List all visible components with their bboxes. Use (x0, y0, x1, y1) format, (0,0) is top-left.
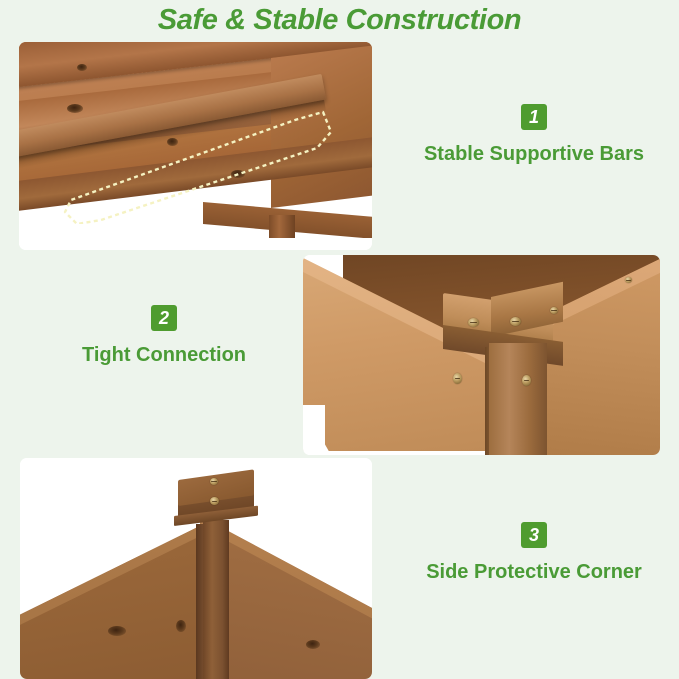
wood-knot (167, 138, 178, 146)
corner-post (489, 343, 547, 455)
screw-head (550, 307, 558, 314)
feature-label-3: Side Protective Corner (404, 560, 664, 584)
screw-head (522, 375, 531, 386)
tabletop-right-section (271, 42, 372, 208)
feature-block-1: 1 Stable Supportive Bars (404, 104, 664, 166)
planter-box-corner-joint-photo (303, 255, 660, 455)
photo-panel-protective-corner (20, 458, 372, 679)
feature-number-badge-3: 3 (521, 522, 547, 548)
feature-number-badge-1: 1 (521, 104, 547, 130)
feature-block-2: 2 Tight Connection (34, 305, 294, 367)
wood-knot (176, 620, 186, 632)
corner-post-protective-cap-photo (20, 458, 372, 679)
photo-panel-support-bars (19, 42, 372, 250)
screw-head (468, 318, 479, 327)
screw-head (453, 373, 462, 384)
wood-knot (306, 640, 320, 649)
wood-knot (231, 170, 245, 178)
screw-head (510, 317, 521, 326)
corner-post (203, 520, 229, 679)
page-title: Safe & Stable Construction (0, 4, 679, 37)
screw-head (625, 277, 632, 283)
feature-label-2: Tight Connection (34, 343, 294, 367)
wood-knot (67, 104, 83, 113)
table-underside-support-bars-photo (19, 42, 372, 250)
photo-panel-tight-connection (303, 255, 660, 455)
screw-head (210, 497, 219, 505)
screw-head (210, 478, 218, 485)
feature-block-3: 3 Side Protective Corner (404, 522, 664, 584)
wood-knot (108, 626, 126, 636)
photo-white-backdrop-lower (19, 238, 372, 250)
feature-number-badge-2: 2 (151, 305, 177, 331)
feature-label-1: Stable Supportive Bars (404, 142, 664, 166)
wood-knot (77, 64, 87, 71)
